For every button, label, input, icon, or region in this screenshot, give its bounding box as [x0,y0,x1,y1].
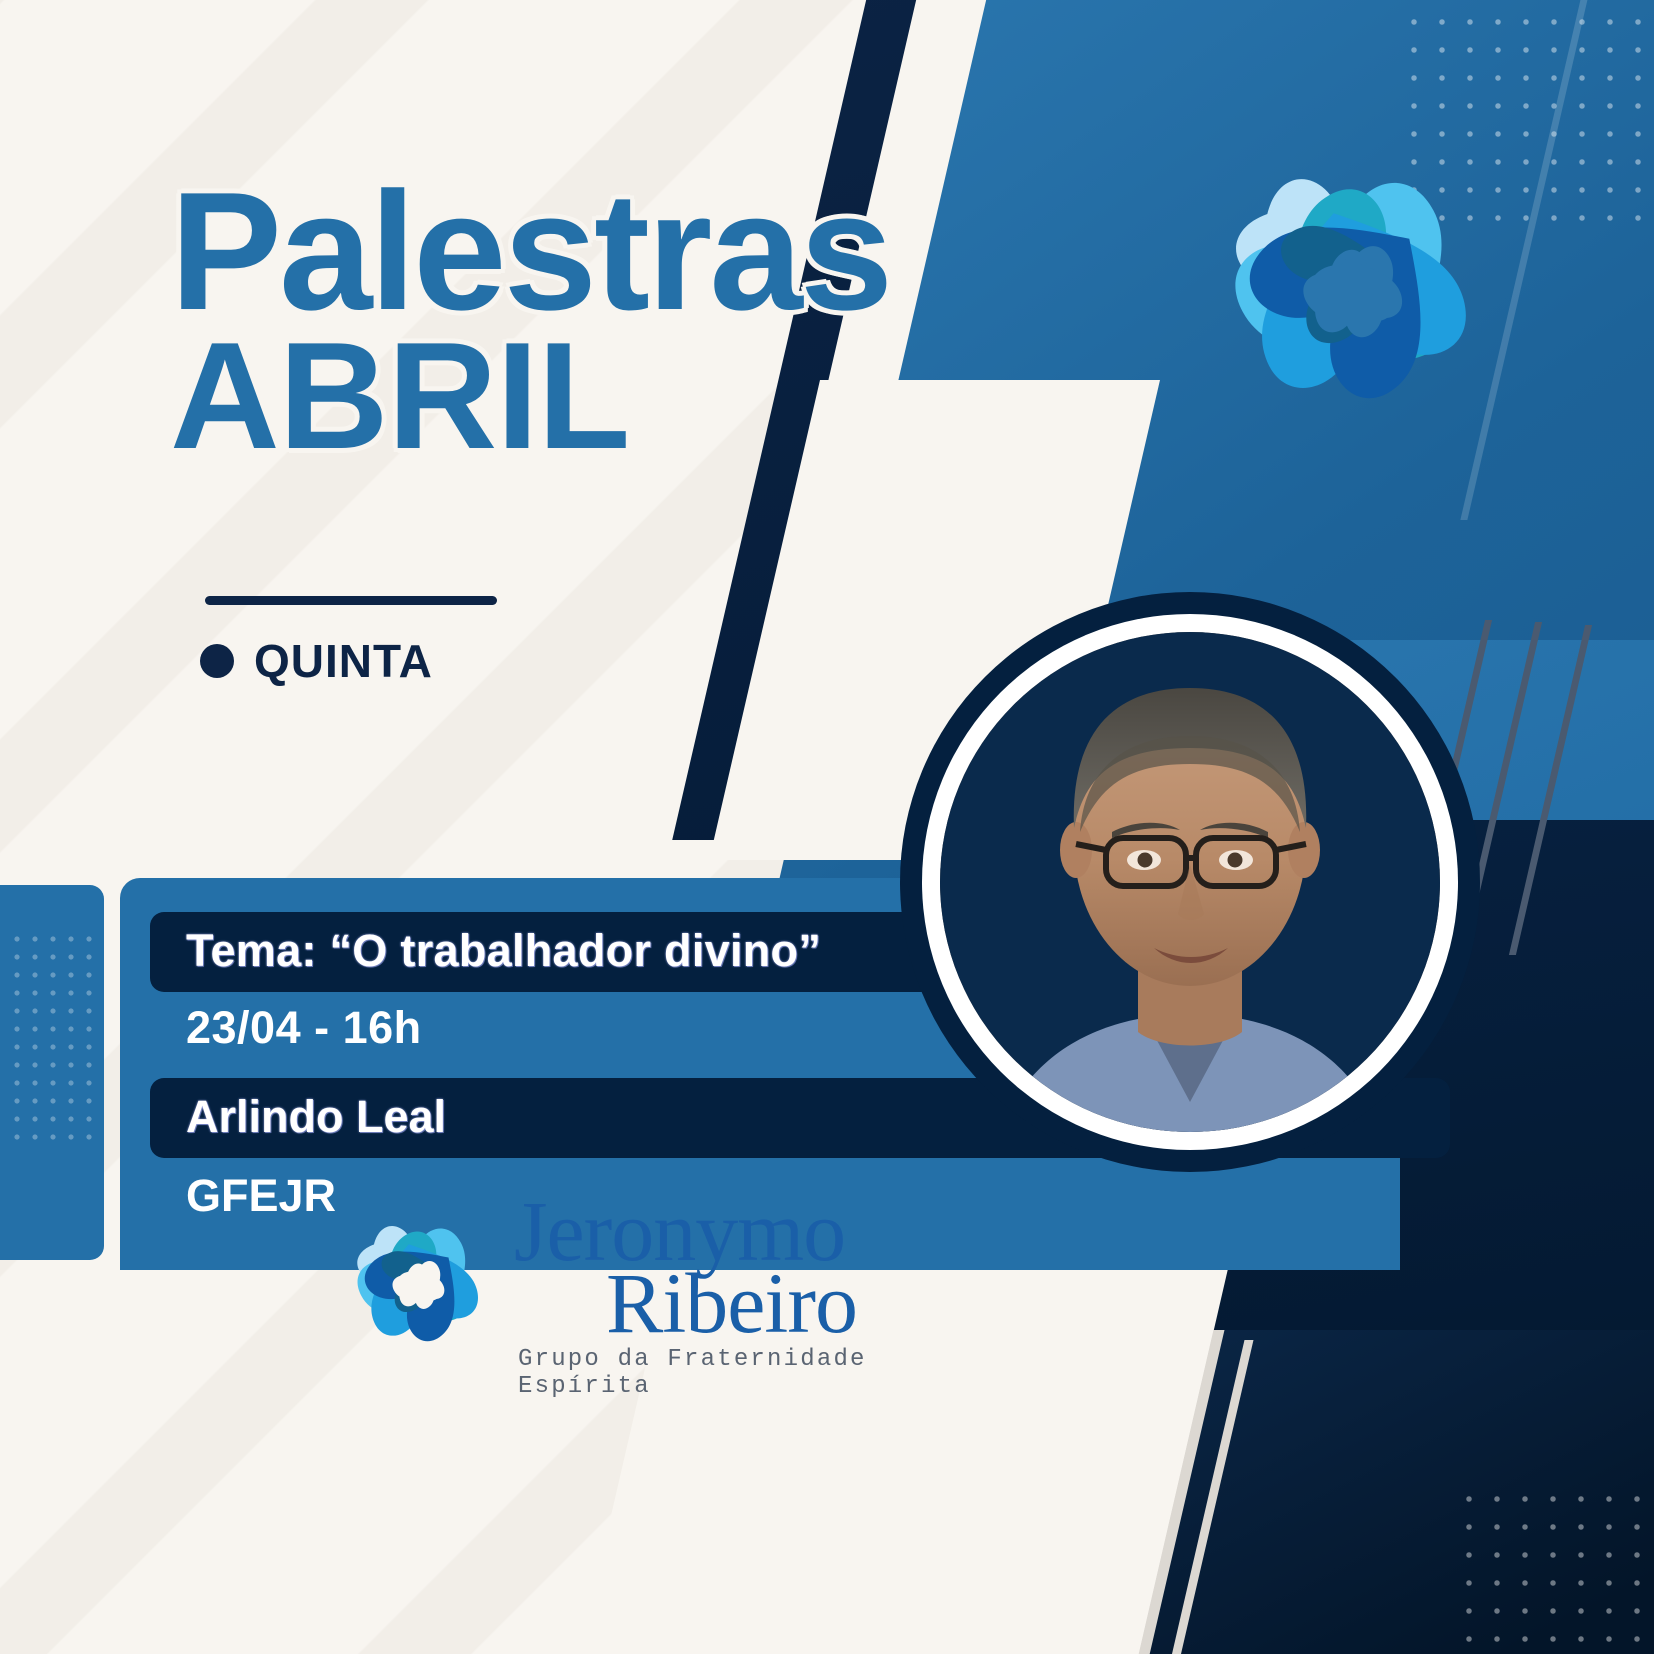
headline-month: ABRIL [170,324,890,468]
dot-grid-left-bar [8,930,100,1152]
brand-wordmark: Jeronymo Ribeiro Grupo da Fraternidade E… [514,1190,910,1400]
info-organization: GFEJR [186,1170,336,1222]
speaker-portrait-avatar [940,632,1440,1132]
info-speaker-name: Arlindo Leal [186,1091,446,1143]
dot-grid-bottom-right [1455,1485,1654,1654]
bullet-dot-icon [200,644,234,678]
butterfly-hearts-mark-icon [1185,118,1525,468]
weekday-label: QUINTA [254,634,433,688]
headline-block: Palestras ABRIL [170,172,890,468]
weekday-row: QUINTA [200,634,433,688]
brand-tagline: Grupo da Fraternidade Espírita [518,1346,910,1400]
info-date-time: 23/04 - 16h [186,1002,422,1054]
headline-primary: Palestras [170,172,890,332]
headline-divider [205,596,497,605]
brand-name-line2: Ribeiro [606,1267,910,1341]
palestras-abril-poster: Palestras ABRIL QUINTA Tema: “O trabalha… [0,0,1654,1654]
info-theme: Tema: “O trabalhador divino” [186,925,821,977]
speaker-portrait [900,592,1480,1172]
brand-logo-lockup: Jeronymo Ribeiro Grupo da Fraternidade E… [330,1190,910,1390]
butterfly-hearts-logo-icon [330,1198,510,1373]
